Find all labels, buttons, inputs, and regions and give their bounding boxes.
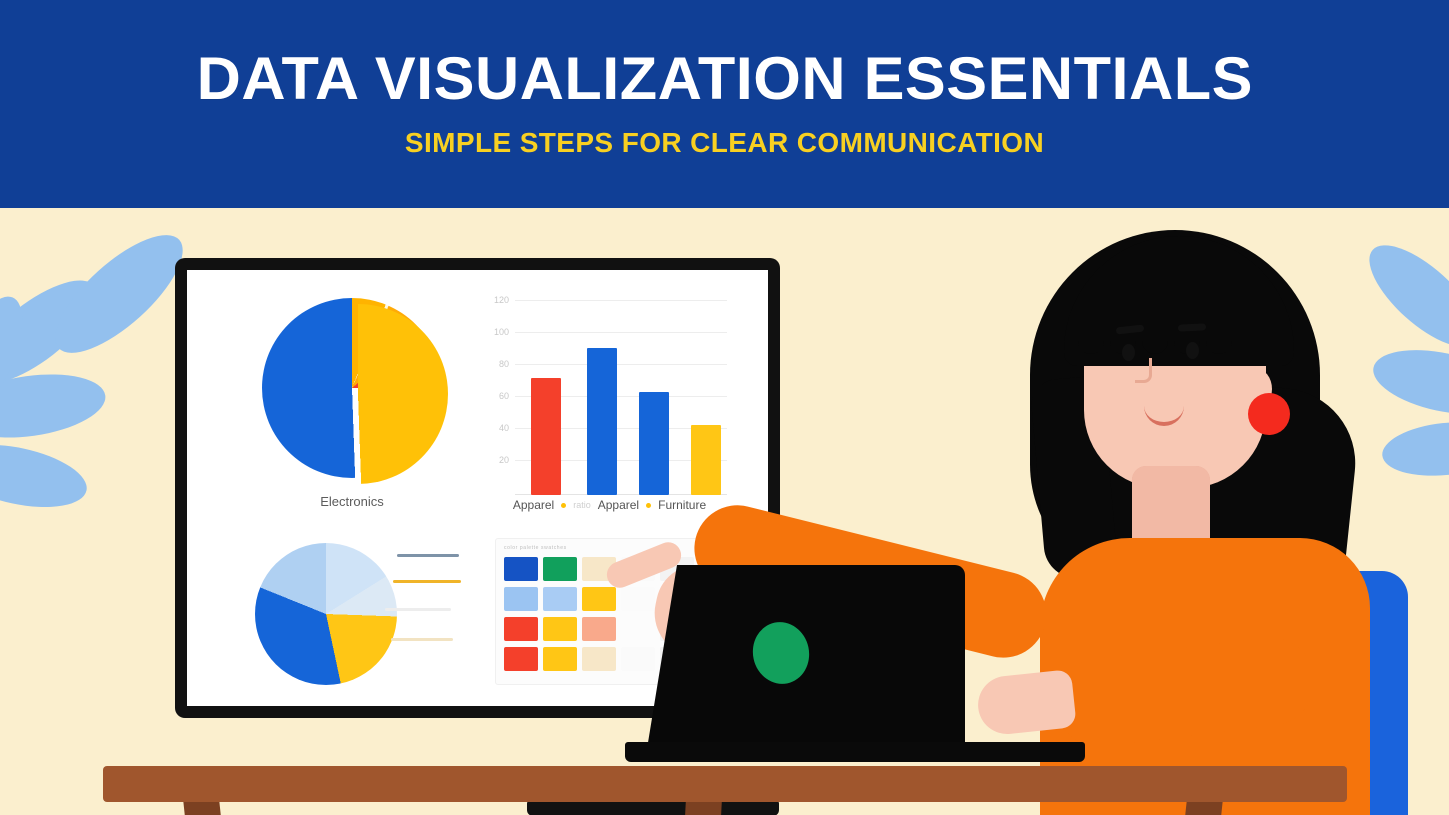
leader-line: [391, 638, 453, 641]
color-swatch: [621, 647, 655, 671]
color-swatch: [582, 617, 616, 641]
illustration-scene: Electronics 120 100 80 60 40 20: [0, 208, 1449, 815]
bar: [587, 348, 617, 495]
color-swatch: [504, 557, 538, 581]
swatch-panel-title: color palette swatches: [504, 545, 567, 551]
pie-chart-sales-mix: Electronics: [252, 288, 452, 488]
leader-line: [397, 554, 459, 557]
nose: [1135, 358, 1152, 383]
page-title: DATA VISUALIZATION ESSENTIALS: [196, 49, 1252, 109]
desk-leg: [183, 802, 242, 815]
pie-chart-segment-breakdown: [245, 538, 445, 688]
pie-chart-label: Electronics: [252, 494, 452, 509]
color-swatch: [543, 647, 577, 671]
typing-hand: [975, 669, 1077, 737]
eye: [1186, 342, 1199, 359]
hair-bangs-tip: [1142, 328, 1168, 354]
color-swatch: [504, 587, 538, 611]
legend-label: Apparel: [513, 498, 554, 512]
earring: [1248, 393, 1290, 435]
legend-label: Furniture: [658, 498, 706, 512]
eyebrow: [1178, 323, 1206, 331]
y-axis-tick: 20: [487, 455, 509, 465]
page-subtitle: SIMPLE STEPS FOR CLEAR COMMUNICATION: [405, 127, 1044, 159]
y-axis-tick: 80: [487, 359, 509, 369]
leader-line: [385, 608, 451, 611]
hair-bangs-tip: [1078, 328, 1104, 354]
pie-slices: [255, 543, 397, 685]
eye: [1122, 344, 1135, 361]
color-swatch: [621, 587, 655, 611]
y-axis-tick: 100: [487, 327, 509, 337]
legend-dot-icon: [646, 503, 651, 508]
leaf-icon: [1380, 417, 1449, 482]
leader-line: [393, 580, 461, 583]
gridline: [515, 332, 727, 333]
color-swatch: [543, 587, 577, 611]
bar: [691, 425, 721, 495]
pie-exploded-slice: [268, 304, 448, 484]
color-swatch: [582, 647, 616, 671]
bar: [639, 392, 669, 495]
y-axis-tick: 120: [487, 295, 509, 305]
color-swatch: [504, 647, 538, 671]
header-banner: DATA VISUALIZATION ESSENTIALS SIMPLE STE…: [0, 0, 1449, 208]
hair-bangs-tip: [1206, 328, 1232, 354]
gridline: [515, 364, 727, 365]
leaf-icon: [0, 434, 92, 518]
y-axis-tick: 60: [487, 391, 509, 401]
color-swatch: [582, 587, 616, 611]
legend-label: ratio: [573, 500, 591, 510]
bar: [531, 378, 561, 495]
laptop-base: [625, 742, 1085, 762]
color-swatch: [543, 617, 577, 641]
legend-dot-icon: [561, 503, 566, 508]
bar-chart-category-performance: 120 100 80 60 40 20 Apparel ratio: [487, 300, 732, 495]
color-swatch: [621, 617, 655, 641]
color-swatch: [504, 617, 538, 641]
color-swatch: [543, 557, 577, 581]
leaf-icon: [0, 366, 109, 447]
desk-surface: [103, 766, 1347, 802]
legend-label: Apparel: [598, 498, 639, 512]
poster-canvas: DATA VISUALIZATION ESSENTIALS SIMPLE STE…: [0, 0, 1449, 815]
gridline: [515, 300, 727, 301]
person-illustration: [960, 208, 1390, 815]
bar-chart-legend: Apparel ratio Apparel Furniture: [487, 498, 732, 512]
y-axis-tick: 40: [487, 423, 509, 433]
